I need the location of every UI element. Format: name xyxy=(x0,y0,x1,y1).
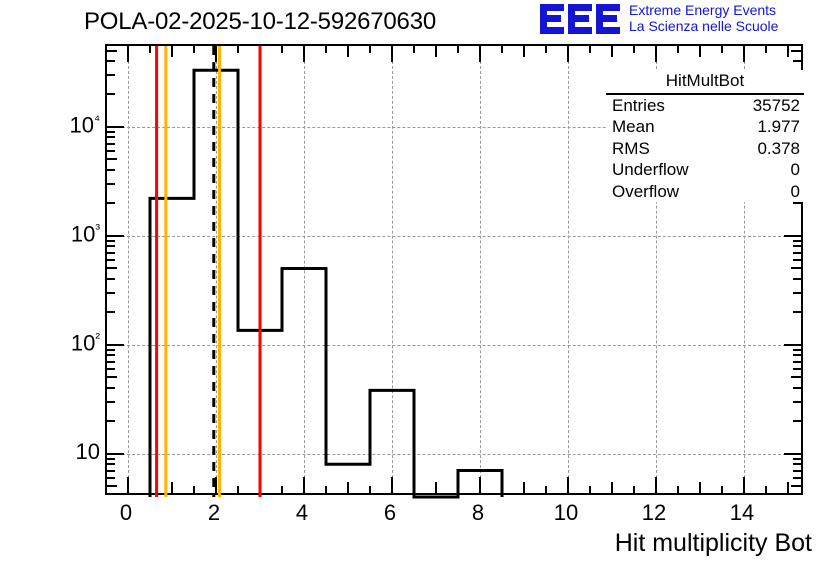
stats-title: HitMultBot xyxy=(606,70,804,95)
page-title: POLA-02-2025-10-12-592670630 xyxy=(84,8,436,36)
x-axis-title: Hit multiplicity Bot xyxy=(615,529,812,558)
x-tick-label-0: 0 xyxy=(120,500,132,526)
stats-label: RMS xyxy=(612,138,650,160)
x-tick-label-14: 14 xyxy=(730,500,754,526)
logo-line-1: Extreme Energy Events xyxy=(629,3,778,19)
stats-value: 0.378 xyxy=(757,138,800,160)
eee-logo: Extreme Energy Events La Scienza nelle S… xyxy=(540,3,778,34)
eee-logo-text: Extreme Energy Events La Scienza nelle S… xyxy=(629,3,778,34)
stats-row-rms: RMS0.378 xyxy=(606,138,804,160)
stats-value: 0 xyxy=(791,159,800,181)
stats-row-underflow: Underflow0 xyxy=(606,159,804,181)
stats-value: 35752 xyxy=(753,95,800,117)
logo-letter-e-2 xyxy=(568,4,592,34)
stats-row-overflow: Overflow0 xyxy=(606,181,804,203)
y-tick-label-1000: 10³ xyxy=(52,220,100,247)
x-tick-label-6: 6 xyxy=(384,500,396,526)
x-tick-label-8: 8 xyxy=(472,500,484,526)
stats-box: HitMultBot Entries35752Mean1.977RMS0.378… xyxy=(606,70,804,202)
stats-row-mean: Mean1.977 xyxy=(606,116,804,138)
stats-row-entries: Entries35752 xyxy=(606,95,804,117)
stats-label: Entries xyxy=(612,95,665,117)
stats-value: 0 xyxy=(791,181,800,203)
x-tick-label-4: 4 xyxy=(296,500,308,526)
stats-label: Overflow xyxy=(612,181,679,203)
stats-rows: Entries35752Mean1.977RMS0.378Underflow0O… xyxy=(606,95,804,203)
stats-label: Underflow xyxy=(612,159,689,181)
y-tick-label-10000: 10⁴ xyxy=(52,111,100,138)
stats-value: 1.977 xyxy=(757,116,800,138)
x-tick-label-2: 2 xyxy=(208,500,220,526)
logo-letter-e-3 xyxy=(596,4,620,34)
y-tick-label-100: 10² xyxy=(52,329,100,356)
eee-logo-glyphs xyxy=(540,4,620,34)
logo-line-2: La Scienza nelle Scuole xyxy=(629,19,778,35)
logo-letter-e-1 xyxy=(540,4,564,34)
stats-label: Mean xyxy=(612,116,655,138)
x-tick-label-12: 12 xyxy=(642,500,666,526)
y-tick-label-10: 10 xyxy=(52,439,100,465)
x-tick-label-10: 10 xyxy=(554,500,578,526)
